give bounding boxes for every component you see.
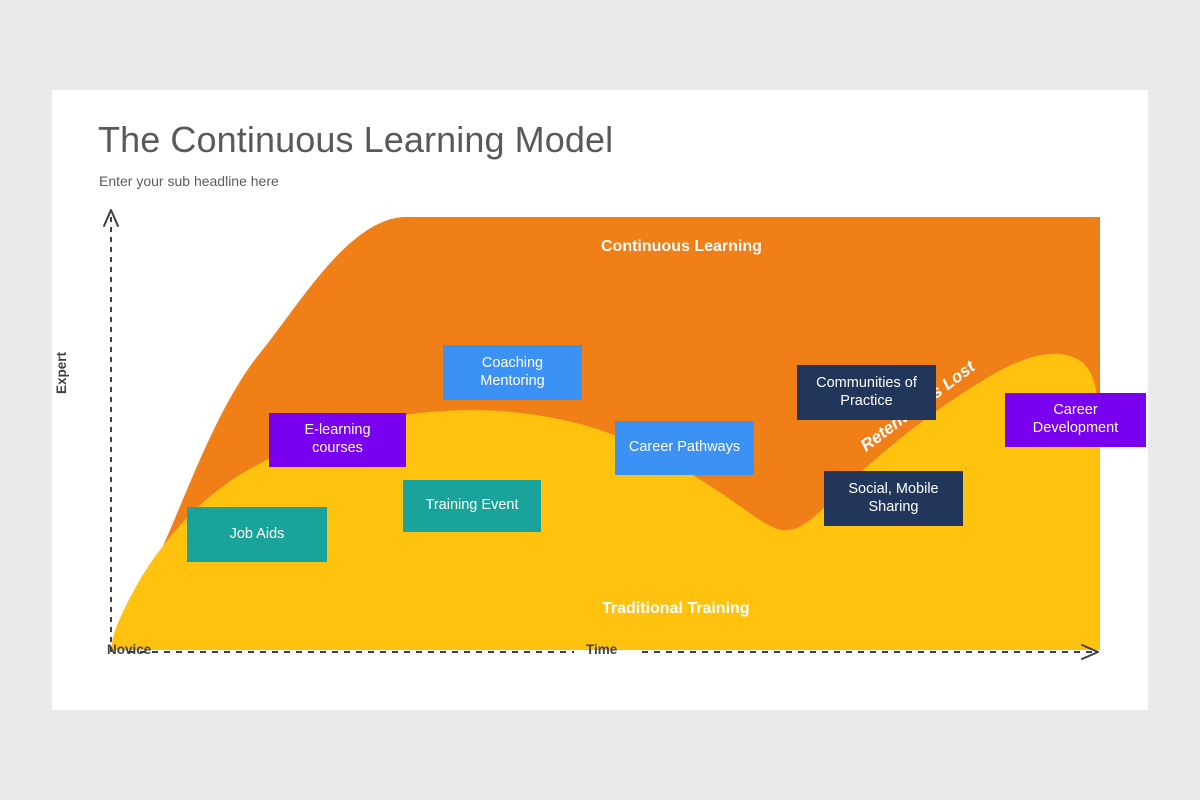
label-box[interactable]: CareerDevelopment <box>1005 393 1146 447</box>
chart-areas-svg <box>52 90 1148 710</box>
label-box[interactable]: Training Event <box>403 480 541 532</box>
slide-canvas: The Continuous Learning Model Enter your… <box>52 90 1148 710</box>
label-box[interactable]: Social, MobileSharing <box>824 471 963 526</box>
x-axis-label: Time <box>586 642 617 657</box>
continuous-learning-chart: Expert Novice Time Continuous Learning T… <box>52 90 1148 710</box>
area-caption-continuous-learning: Continuous Learning <box>601 238 762 256</box>
label-box[interactable]: Communities ofPractice <box>797 365 936 420</box>
label-box[interactable]: Job Aids <box>187 507 327 562</box>
x-axis-start-label: Novice <box>107 642 151 657</box>
label-box[interactable]: CoachingMentoring <box>443 345 582 400</box>
area-caption-traditional-training: Traditional Training <box>602 600 750 618</box>
label-box[interactable]: Career Pathways <box>615 421 754 475</box>
y-axis-label: Expert <box>54 352 69 394</box>
label-box[interactable]: E-learningcourses <box>269 413 406 467</box>
